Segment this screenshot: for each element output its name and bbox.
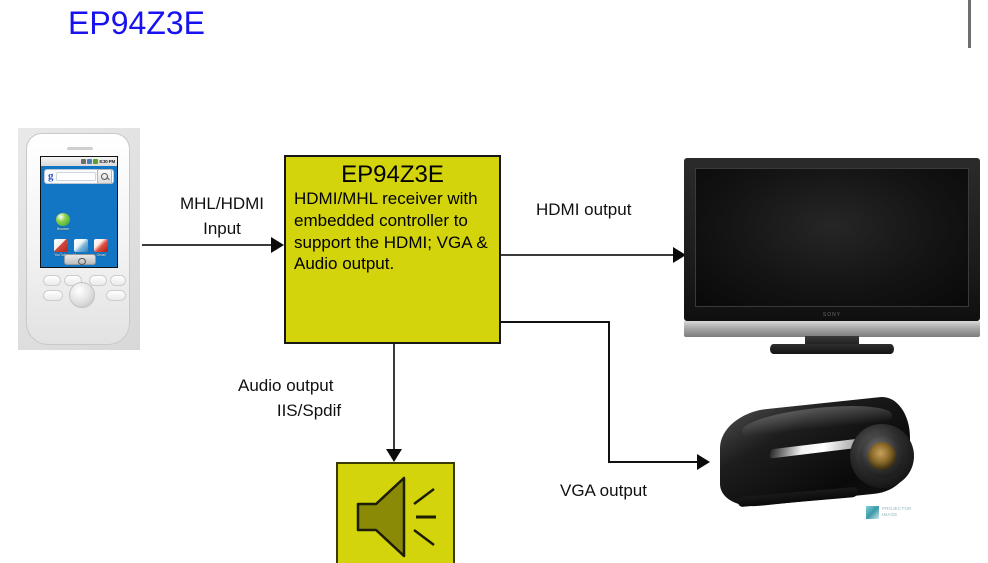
phone-earpiece (67, 147, 93, 150)
phone-home-button[interactable] (43, 275, 61, 286)
phone-search-input[interactable] (56, 172, 97, 181)
projector-lens-glass (868, 442, 896, 470)
status-clock: 8:30 PM (99, 159, 115, 164)
search-icon[interactable] (97, 169, 112, 184)
slide-canvas: EP94Z3E 8:30 PM g (0, 0, 988, 563)
tv-speaker-strip (684, 321, 980, 337)
page-title: EP94Z3E (68, 5, 205, 42)
phone-screen: 8:30 PM g Browser YouTube Messa (40, 156, 118, 268)
tv-screen (695, 168, 969, 307)
messaging-glyph (74, 239, 88, 252)
projector-image-watermark: PROJECTOR IMAGE (866, 504, 938, 520)
signal-icon (87, 159, 92, 164)
connector-label-audio-output: Audio output IIS/Spdif (238, 374, 398, 423)
gmail-glyph (94, 239, 108, 252)
input-label-line1: MHL/HDMI (180, 194, 264, 213)
audio-label-line2: IIS/Spdif (238, 399, 398, 424)
tv-stand-base (770, 344, 894, 354)
chip-block-title: EP94Z3E (286, 162, 499, 187)
phone-call-button[interactable] (43, 290, 63, 301)
audio-label-line1: Audio output (238, 376, 333, 395)
browser-app-icon[interactable]: Browser (55, 213, 71, 231)
phone-search-button[interactable] (89, 275, 107, 286)
audio-output-connector-line (393, 344, 395, 452)
chip-block-description: HDMI/MHL receiver with embedded controll… (286, 187, 499, 275)
home-theater-projector: PROJECTOR IMAGE (714, 388, 964, 538)
top-right-divider (968, 0, 971, 48)
connector-label-hdmi-output: HDMI output (536, 198, 631, 223)
phone-end-call-button[interactable] (106, 290, 126, 301)
connector-label-input: MHL/HDMI Input (166, 192, 278, 241)
input-label-line2: Input (203, 219, 241, 238)
watermark-line1: PROJECTOR (882, 506, 911, 511)
phone-trackball[interactable] (69, 282, 95, 308)
hdmi-output-connector-line (501, 254, 676, 256)
watermark-mark (866, 506, 879, 519)
sim-icon (81, 159, 86, 164)
audio-output-arrowhead (386, 449, 402, 462)
phone-status-bar: 8:30 PM (41, 157, 117, 166)
input-connector-line (142, 244, 272, 246)
watermark-line2: IMAGE (882, 512, 898, 517)
speaker-icon (350, 474, 446, 560)
browser-glyph (56, 213, 70, 226)
youtube-glyph (54, 239, 68, 252)
tv-brand-label: SONY (823, 312, 841, 318)
connector-label-vga-output: VGA output (560, 479, 647, 504)
vga-output-arrowhead (697, 454, 710, 470)
vga-output-segment-3 (608, 461, 700, 463)
phone-search-widget[interactable]: g (44, 169, 114, 184)
vga-output-segment-2 (608, 321, 610, 462)
audio-speaker-block (336, 462, 455, 563)
input-arrowhead (271, 237, 284, 253)
vga-output-segment-1 (501, 321, 610, 323)
android-smartphone: 8:30 PM g Browser YouTube Messa (18, 128, 140, 350)
tv-bezel: SONY (684, 158, 980, 321)
google-logo: g (45, 171, 56, 182)
ep94z3e-chip-block: EP94Z3E HDMI/MHL receiver with embedded … (284, 155, 501, 344)
flat-screen-television: SONY (684, 158, 980, 354)
watermark-text: PROJECTOR IMAGE (882, 506, 911, 518)
phone-back-button[interactable] (110, 275, 126, 286)
battery-icon (93, 159, 98, 164)
phone-body: 8:30 PM g Browser YouTube Messa (26, 133, 130, 345)
app-label: Browser (55, 227, 71, 231)
app-drawer-handle[interactable] (64, 254, 96, 265)
